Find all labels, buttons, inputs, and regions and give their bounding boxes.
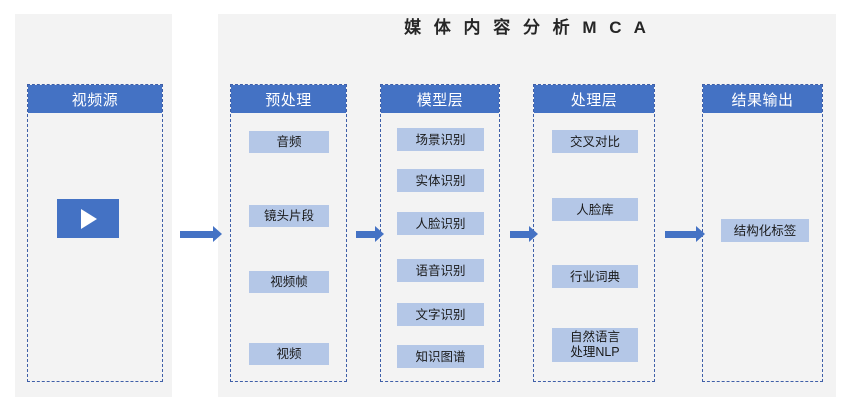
arrow-shaft <box>665 231 696 238</box>
column-result-output: 结果输出 结构化标签 <box>702 84 823 382</box>
column-body-result-output: 结构化标签 <box>703 113 822 381</box>
arrow-head <box>375 226 384 242</box>
arrow-shaft <box>510 231 529 238</box>
column-header-video-source: 视频源 <box>28 85 162 113</box>
arrow-right-icon <box>180 226 222 242</box>
item-chip[interactable]: 自然语言 处理NLP <box>552 328 638 362</box>
item-chip[interactable]: 人脸识别 <box>397 212 484 235</box>
arrow-shaft <box>180 231 213 238</box>
arrow-head <box>529 226 538 242</box>
arrow-right-icon <box>356 226 384 242</box>
column-model-layer: 模型层 场景识别 实体识别 人脸识别 语音识别 文字识别 知识图谱 <box>380 84 500 382</box>
item-chip[interactable]: 人脸库 <box>552 198 638 221</box>
play-triangle-icon <box>81 209 97 229</box>
column-header-model-layer: 模型层 <box>381 85 499 113</box>
item-chip[interactable]: 镜头片段 <box>249 205 329 227</box>
arrow-shaft <box>356 231 375 238</box>
item-chip[interactable]: 结构化标签 <box>721 219 809 242</box>
column-header-result-output: 结果输出 <box>703 85 822 113</box>
item-chip[interactable]: 知识图谱 <box>397 345 484 368</box>
column-body-preprocess: 音频 镜头片段 视频帧 视频 <box>231 113 346 381</box>
column-body-video-source <box>28 113 162 381</box>
item-chip[interactable]: 音频 <box>249 131 329 153</box>
arrow-right-icon <box>665 226 705 242</box>
item-chip[interactable]: 视频 <box>249 343 329 365</box>
play-icon <box>57 199 119 238</box>
column-body-model-layer: 场景识别 实体识别 人脸识别 语音识别 文字识别 知识图谱 <box>381 113 499 381</box>
arrow-head <box>696 226 705 242</box>
column-body-process-layer: 交叉对比 人脸库 行业词典 自然语言 处理NLP <box>534 113 654 381</box>
item-chip[interactable]: 交叉对比 <box>552 130 638 153</box>
arrow-head <box>213 226 222 242</box>
page-title: 媒 体 内 容 分 析 M C A <box>218 16 836 40</box>
arrow-right-icon <box>510 226 538 242</box>
item-chip[interactable]: 视频帧 <box>249 271 329 293</box>
column-process-layer: 处理层 交叉对比 人脸库 行业词典 自然语言 处理NLP <box>533 84 655 382</box>
item-chip[interactable]: 实体识别 <box>397 169 484 192</box>
item-chip[interactable]: 行业词典 <box>552 265 638 288</box>
item-chip[interactable]: 场景识别 <box>397 128 484 151</box>
item-chip[interactable]: 文字识别 <box>397 303 484 326</box>
column-header-preprocess: 预处理 <box>231 85 346 113</box>
item-chip[interactable]: 语音识别 <box>397 259 484 282</box>
column-header-process-layer: 处理层 <box>534 85 654 113</box>
column-preprocess: 预处理 音频 镜头片段 视频帧 视频 <box>230 84 347 382</box>
column-video-source: 视频源 <box>27 84 163 382</box>
